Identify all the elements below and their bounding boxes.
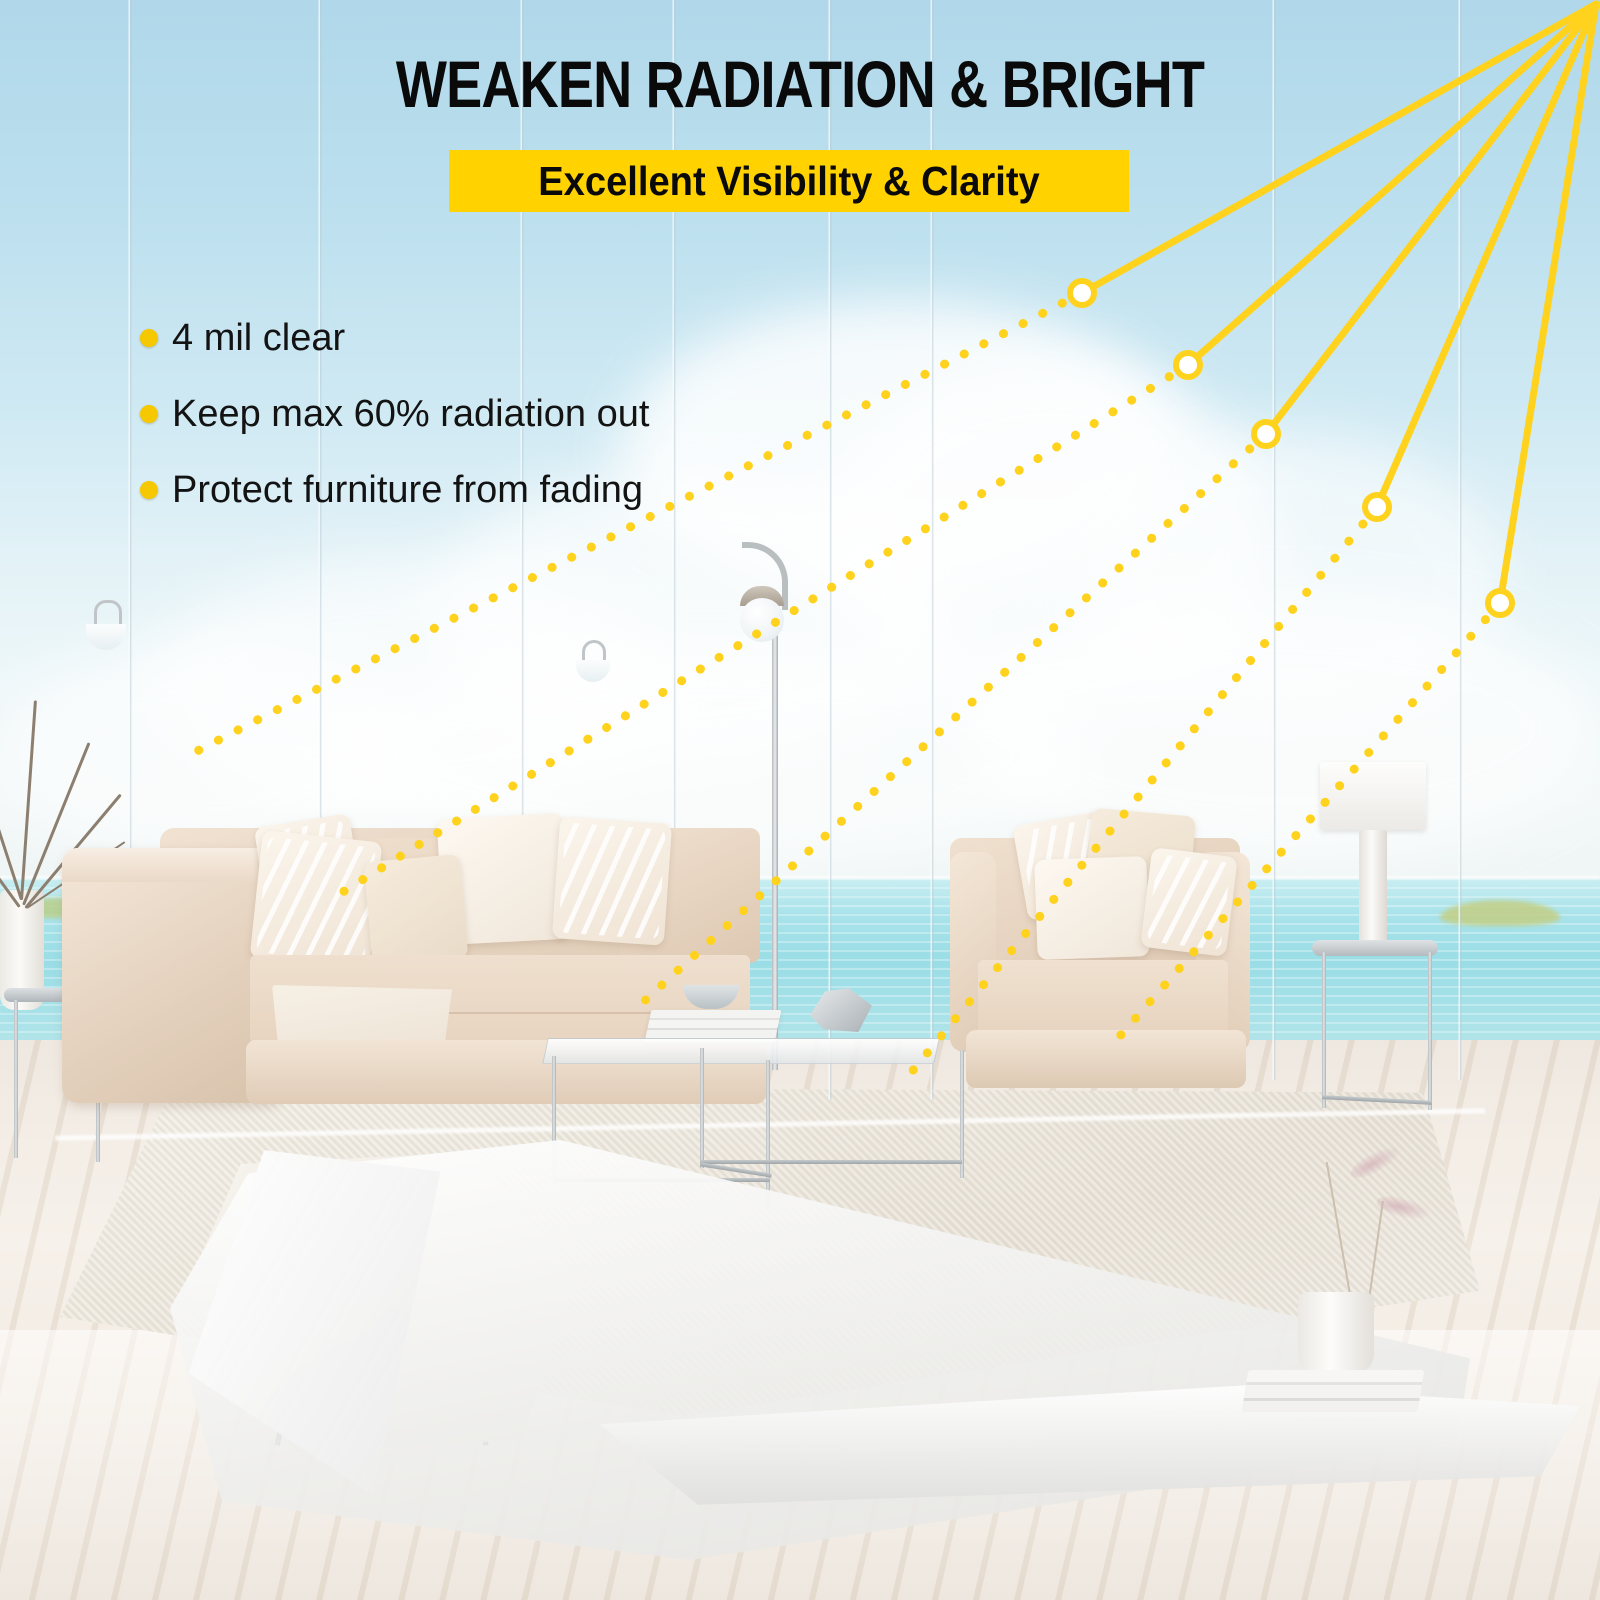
- table-leg: [14, 1000, 18, 1158]
- feature-label: Keep max 60% radiation out: [172, 393, 649, 436]
- throw-pillow: [1034, 856, 1149, 960]
- ceramic-vase: [1298, 1292, 1374, 1374]
- bullet-dot-icon: [140, 405, 158, 423]
- armchair-seat: [978, 960, 1228, 1038]
- feature-label: Protect furniture from fading: [172, 469, 643, 512]
- armchair-base: [966, 1030, 1246, 1088]
- side-table-right-top: [1312, 940, 1438, 956]
- glass-mullion: [1458, 0, 1462, 1080]
- headline: WEAKEN RADIATION & BRIGHT: [144, 46, 1456, 122]
- table-leg: [1322, 952, 1326, 1108]
- table-lamp-marble-base: [1359, 830, 1387, 942]
- feature-list: 4 mil clear Keep max 60% radiation out P…: [140, 300, 780, 528]
- sofa-arm-top: [62, 848, 278, 882]
- list-item: 4 mil clear: [140, 300, 780, 376]
- floor-lamp-pole: [772, 620, 778, 1070]
- feature-label: 4 mil clear: [172, 317, 345, 360]
- living-room-scene: [0, 0, 1600, 1600]
- floor-lamp-globe: [740, 598, 784, 642]
- product-feature-image: WEAKEN RADIATION & BRIGHT Excellent Visi…: [0, 0, 1600, 1600]
- book-stack: [1242, 1370, 1425, 1412]
- throw-pillow: [250, 830, 383, 970]
- list-item: Keep max 60% radiation out: [140, 376, 780, 452]
- table-leg: [766, 1060, 770, 1208]
- subheadline-text: Excellent Visibility & Clarity: [473, 150, 1105, 212]
- throw-pillow: [364, 854, 469, 966]
- table-leg: [1428, 952, 1432, 1110]
- table-leg: [960, 1050, 964, 1178]
- throw-pillow: [552, 816, 672, 946]
- table-leg: [700, 1048, 704, 1168]
- coffee-table-top: [542, 1038, 940, 1064]
- throw-pillow: [1140, 847, 1238, 957]
- bullet-dot-icon: [140, 329, 158, 347]
- glass-mullion: [1272, 0, 1276, 1080]
- table-stretcher: [700, 1160, 962, 1164]
- table-lamp-shade: [1320, 762, 1426, 830]
- list-item: Protect furniture from fading: [140, 452, 780, 528]
- bullet-dot-icon: [140, 481, 158, 499]
